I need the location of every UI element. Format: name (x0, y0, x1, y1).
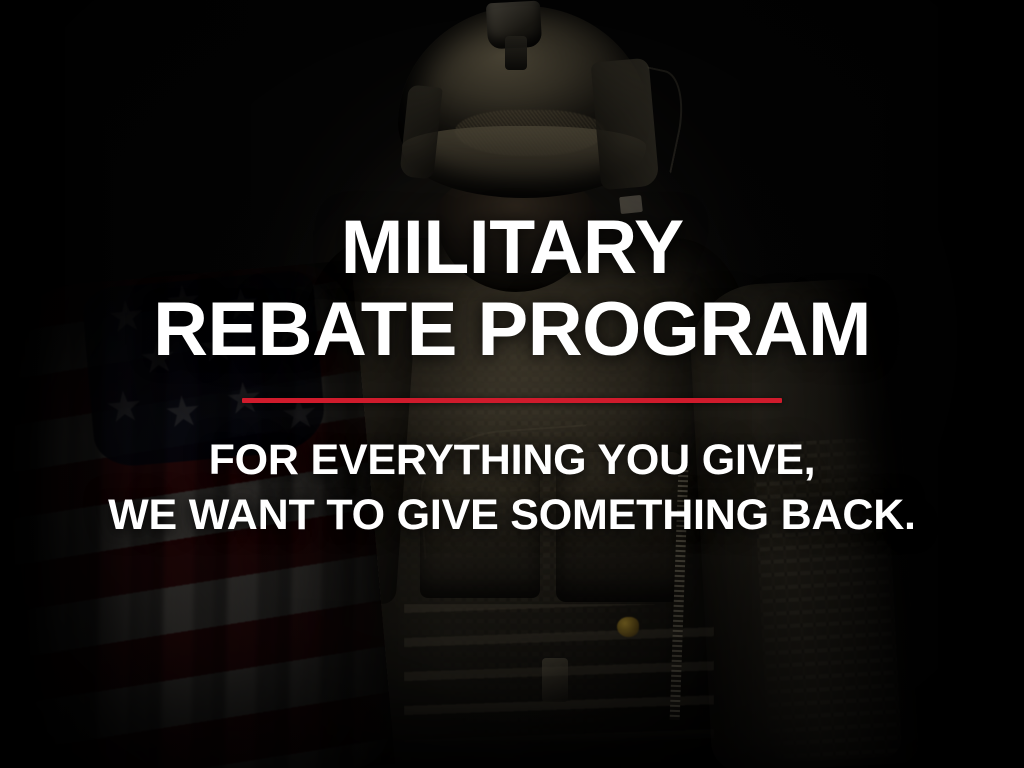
headline-line-2: REBATE PROGRAM (153, 294, 871, 367)
subheadline-line-1: FOR EVERYTHING YOU GIVE, (108, 433, 916, 488)
accent-divider-rule (242, 398, 782, 403)
headline-line-1: MILITARY (341, 212, 684, 285)
subheadline-line-2: WE WANT TO GIVE SOMETHING BACK. (108, 488, 916, 543)
military-rebate-program-poster: MILITARY REBATE PROGRAM FOR EVERYTHING Y… (0, 0, 1024, 768)
subheadline: FOR EVERYTHING YOU GIVE, WE WANT TO GIVE… (108, 433, 916, 543)
poster-content: MILITARY REBATE PROGRAM FOR EVERYTHING Y… (0, 0, 1024, 768)
